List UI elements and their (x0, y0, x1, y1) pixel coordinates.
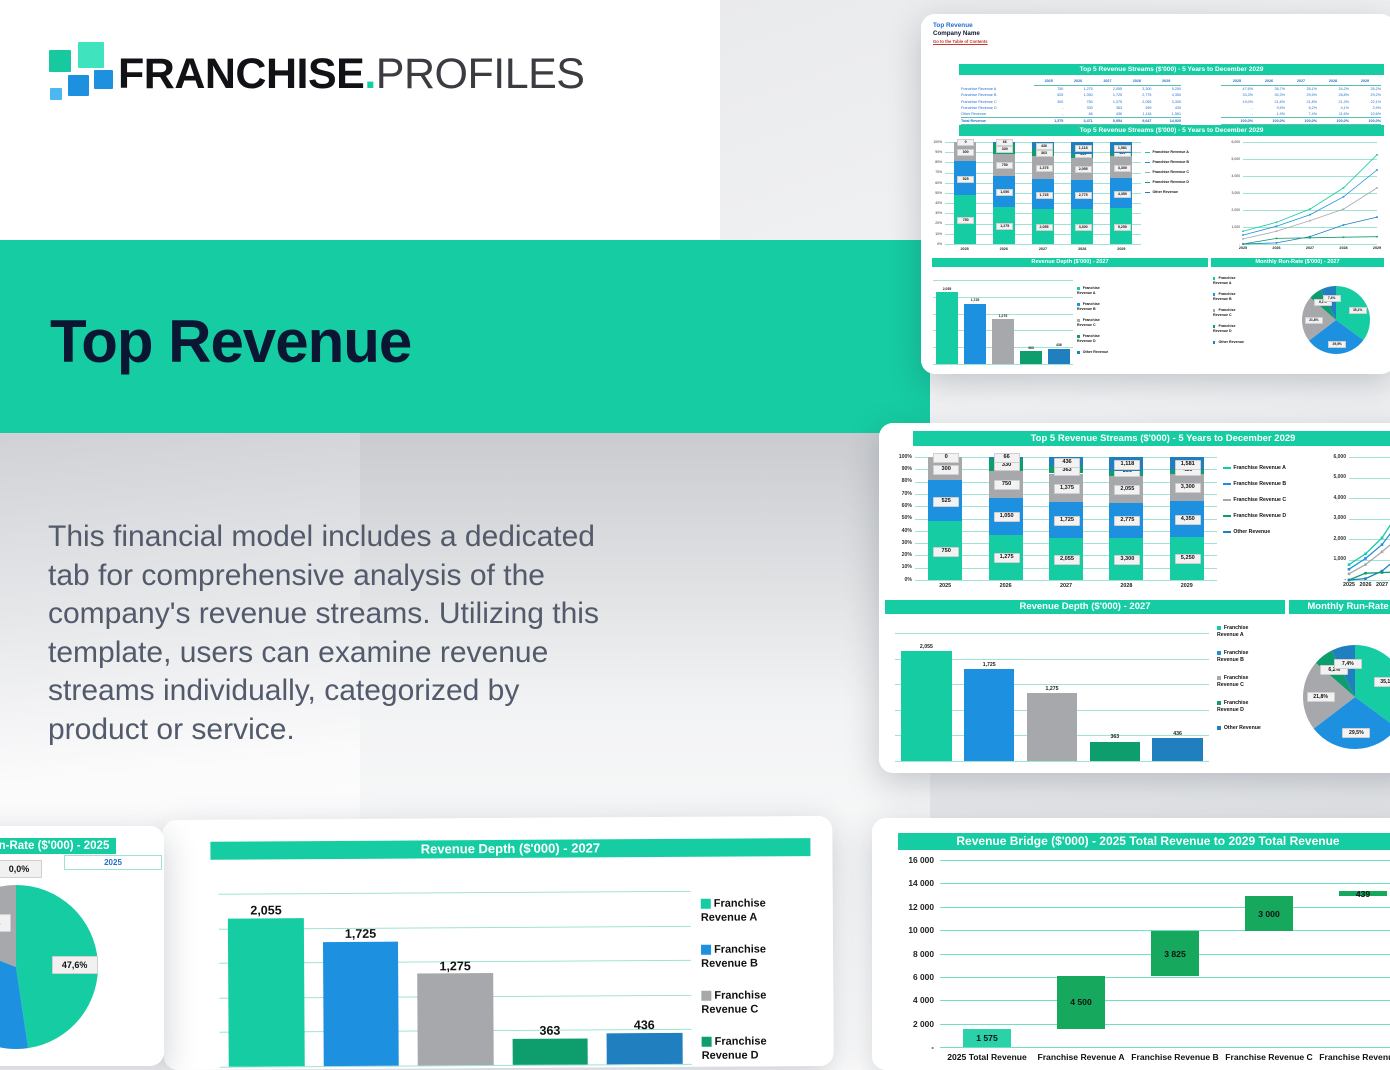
legend-swatch (1223, 467, 1231, 469)
bar-value-label: 2,775 (1075, 192, 1092, 199)
bar-value-label: 1,275 (996, 223, 1013, 230)
bar (323, 941, 399, 1066)
bar-value-label: 1,725 (958, 298, 992, 302)
legend-swatch (1213, 277, 1215, 279)
legend-label: Franchise Revenue C (1077, 318, 1100, 327)
legend-label: Franchise Revenue A (1217, 625, 1248, 638)
gridline (945, 244, 1141, 245)
x-axis-tick-label: 2029 (1157, 583, 1217, 589)
bar-value-label: 363 (1084, 734, 1146, 740)
waterfall-value-label: 439 (1339, 889, 1388, 899)
legend-item: Other Revenue (1223, 529, 1307, 536)
legend-label: Franchise Revenue D (1213, 324, 1235, 333)
legend-label: Franchise Revenue B (1217, 650, 1248, 663)
legend-label: Franchise Revenue D (1233, 513, 1286, 519)
y-axis-tick-label: 6 000 (894, 972, 934, 982)
x-axis-tick-label: 2027 (1036, 583, 1096, 589)
bar (964, 669, 1014, 761)
legend-label: Franchise Revenue C (1217, 675, 1248, 688)
screenshot-card-stacked-detail[interactable]: Top 5 Revenue Streams ($'000) - 5 Years … (879, 423, 1390, 773)
x-axis-tick-label: 2027 (1023, 247, 1062, 251)
bar-value-label: 363 (1036, 150, 1053, 157)
x-axis-tick-label: 2027 (1300, 246, 1320, 250)
runrate-pie-title: Monthly Run-Rate ($'000) - 2025 (0, 838, 116, 854)
stacked-bar-chart-small: 0%10%20%30%40%50%60%70%80%90%100%7505253… (929, 138, 1199, 254)
legend-swatch (1145, 192, 1150, 194)
legend-swatch (1223, 483, 1231, 485)
bar-value-label: 1,275 (1021, 686, 1083, 692)
y-axis-tick-label: 10% (889, 564, 912, 570)
bar-value-label: 5,250 (1114, 224, 1131, 231)
legend-swatch (1077, 351, 1080, 354)
pie-plot-2025: 47,6%33,3%19,0%0,0%0,0% (0, 872, 164, 1062)
legend-item: Franchise Revenue D (702, 1034, 810, 1063)
bar-value-label: 1,725 (1036, 192, 1053, 199)
bar (936, 292, 958, 364)
legend-label: Other Revenue (1083, 350, 1109, 354)
legend-label: Franchise Revenue A (1152, 150, 1188, 154)
bar-value-label: 4,350 (1175, 515, 1201, 525)
bar-value-label: 436 (1042, 343, 1076, 347)
bar-value-label: 750 (957, 217, 974, 224)
legend-swatch (1213, 341, 1215, 343)
legend-item: Franchise Revenue A (701, 896, 809, 925)
pie-value-label: 0,0% (0, 860, 42, 878)
bar-value-label: 3,300 (1075, 224, 1092, 231)
x-axis-tick-label: 2025 Total Revenue (940, 1052, 1034, 1062)
gridline (915, 580, 1217, 581)
pie-value-label: 21,8% (1305, 317, 1323, 324)
brand-logo: FRANCHISE.PROFILES (45, 42, 545, 112)
bar-value-label: 5,250 (1175, 554, 1201, 564)
table-total-row: Total Revenue 1,575 3,471 5,954 9,647 14… (961, 118, 1181, 125)
y-axis-tick-label: 10 000 (894, 925, 934, 935)
logo-square-blue (68, 75, 89, 96)
legend-swatch (1223, 499, 1231, 501)
table-total-row: 100,0% 100,0% 100,0% 100,0% 100,0% (1221, 118, 1381, 125)
bar-value-label: 363 (506, 1024, 594, 1039)
y-axis-tick-label: 0% (929, 242, 942, 246)
sheet-company-name: Company Name (933, 30, 988, 38)
legend-item: Franchise Revenue A (1213, 276, 1273, 286)
screenshot-card-revenue-bridge[interactable]: Revenue Bridge ($'000) - 2025 Total Reve… (872, 818, 1390, 1070)
pie-value-label: 7,4% (1323, 295, 1341, 302)
legend-swatch (1213, 325, 1215, 327)
legend-swatch (1077, 303, 1080, 306)
line-series-paths (1319, 451, 1390, 596)
bar (417, 973, 493, 1065)
y-axis-tick-label: 2 000 (894, 1019, 934, 1029)
x-axis-tick-label: 2026 (1267, 246, 1287, 250)
runrate-band-title: Monthly Run-Rate ($'000) - 2027 (1211, 258, 1384, 267)
legend-item: Franchise Revenue B (1213, 292, 1273, 302)
legend-label: Franchise Revenue C (1233, 497, 1286, 503)
table-row: 47,6% 36,7% 35,1% 34,2% 35,2% (1221, 86, 1381, 93)
revenue-depth-chart-large: 2,0551,7251,275363436 (889, 619, 1209, 769)
pie-value-label: 29,5% (1328, 341, 1346, 348)
legend-swatch (1077, 319, 1080, 322)
legend-item: Franchise Revenue C (1223, 497, 1307, 504)
y-axis-tick-label: 8 000 (894, 949, 934, 959)
legend-item: Franchise Revenue B (1145, 160, 1197, 165)
logo-square-teal-light (78, 42, 104, 68)
revenue-table-percent: 2025 2026 2027 2028 2029 47,6% 36,7% 35,… (1221, 78, 1381, 125)
waterfall-value-label: 4 500 (1057, 997, 1106, 1007)
legend-label: Franchise Revenue D (1217, 700, 1248, 713)
legend-label: Franchise Revenue B (1077, 302, 1100, 311)
legend-item: Franchise Revenue B (1217, 650, 1277, 664)
gridline (940, 1024, 1390, 1025)
logo-wordmark: FRANCHISE.PROFILES (118, 39, 584, 109)
bar (1020, 351, 1042, 364)
logo-dot: . (364, 50, 375, 98)
stacked-chart-band-title: Top 5 Revenue Streams ($'000) - 5 Years … (959, 125, 1384, 136)
legend-swatch (701, 991, 711, 1001)
y-axis-tick-label: - (894, 1042, 934, 1052)
legend-item: Franchise Revenue D (1213, 324, 1273, 334)
x-axis-tick-label: 2026 (975, 583, 1035, 589)
pie-value-label: 29,5% (1342, 728, 1370, 738)
bar-value-label: 330 (996, 146, 1013, 153)
y-axis-tick-label: 20% (929, 221, 942, 225)
legend-label: Franchise Revenue D (1077, 334, 1100, 343)
legend-swatch (1223, 515, 1231, 517)
y-axis-tick-label: 80% (889, 478, 912, 484)
y-axis-tick-label: 90% (889, 466, 912, 472)
bar (607, 1032, 683, 1064)
bar-value-label: 2,055 (1114, 485, 1140, 495)
legend-label: Other Revenue (1233, 529, 1270, 535)
legend-item: Franchise Revenue C (1213, 308, 1273, 318)
pie-value-label: 35,1% (1349, 307, 1367, 314)
bar-value-label: 0 (957, 139, 974, 146)
sheet-header: Top Revenue Company Name Go to the Table… (933, 22, 988, 45)
bar-value-label: 2,055 (895, 644, 957, 650)
bar (1027, 693, 1077, 761)
pie-value-label: 21,8% (1307, 692, 1335, 702)
gridline (895, 761, 1209, 762)
revenue-bridge-plot: -2 0004 0006 0008 00010 00012 00014 0001… (894, 854, 1390, 1069)
x-axis-tick-label: Franchise Revenue A (1034, 1052, 1128, 1062)
legend-item: Franchise Revenue D (1217, 700, 1277, 714)
y-axis-tick-label: 70% (929, 170, 942, 174)
legend-swatch (701, 899, 711, 909)
background-header-white (0, 0, 720, 240)
bar-value-label: 525 (933, 497, 959, 507)
bar-value-label: 3,300 (1175, 483, 1201, 493)
bar-value-label: 2,055 (222, 904, 310, 919)
x-axis-tick-label: 2028 (1063, 247, 1102, 251)
bar-value-label: 3,300 (1114, 555, 1140, 565)
y-axis-tick-label: 50% (889, 515, 912, 521)
waterfall-value-label: 3 000 (1245, 909, 1294, 919)
y-axis-tick-label: 40% (929, 201, 942, 205)
pie-chart-large: 35,1%29,5%21,8%6,2%7,4%Franchise Revenue… (1215, 619, 1390, 769)
legend-item: Franchise Revenue A (1145, 150, 1197, 155)
legend-item: Franchise Revenue B (1223, 481, 1307, 488)
legend-label: Franchise Revenue D (1152, 180, 1189, 184)
gridline (940, 907, 1390, 908)
bar-value-label: 1,275 (411, 959, 499, 974)
table-band-title: Top 5 Revenue Streams ($'000) - 5 Years … (959, 64, 1384, 75)
legend-label: Franchise Revenue B (1233, 481, 1286, 487)
waterfall-value-label: 3 825 (1151, 949, 1200, 959)
stacked-chart-title-2: Top 5 Revenue Streams ($'000) - 5 Years … (913, 431, 1390, 446)
gridline (219, 891, 691, 894)
gridline (940, 977, 1390, 978)
x-axis-tick-label: 2025 (1233, 246, 1253, 250)
pie-slices (1215, 619, 1390, 769)
screenshot-card-spreadsheet-overview[interactable]: Top Revenue Company Name Go to the Table… (921, 14, 1390, 374)
y-axis-tick-label: 70% (889, 491, 912, 497)
bar-value-label: 4,350 (1114, 191, 1131, 198)
x-axis-tick-label: Franchise Revenue B (1128, 1052, 1222, 1062)
bar (228, 918, 304, 1067)
legend-item: Franchise Revenue A (1077, 286, 1127, 296)
revenue-depth-band-title: Revenue Depth ($'000) - 2027 (932, 258, 1208, 267)
hero-paragraph: This financial model includes a dedicate… (48, 518, 618, 749)
gridline (895, 633, 1209, 634)
legend-swatch (701, 945, 711, 955)
pie-value-label: 19,0% (0, 914, 11, 932)
legend-swatch (1077, 287, 1080, 290)
bar-value-label: 750 (996, 162, 1013, 169)
bar-value-label: 1,118 (1075, 145, 1092, 152)
legend-item: Franchise Revenue C (701, 988, 809, 1017)
pie-value-label: 7,4% (1334, 659, 1362, 669)
legend-swatch (1217, 626, 1221, 630)
bar (901, 651, 951, 761)
legend-swatch (1213, 309, 1215, 311)
legend-label: Franchise Revenue C (1213, 308, 1235, 317)
legend-item: Franchise Revenue B (701, 942, 809, 971)
legend-label: Franchise Revenue B (1152, 160, 1189, 164)
bar-value-label: 1,118 (1114, 460, 1140, 470)
screenshot-card-pie-2025[interactable]: Monthly Run-Rate ($'000) - 2025 2025 47,… (0, 826, 164, 1066)
y-axis-tick-label: 100% (889, 454, 912, 460)
bar-value-label: 1,050 (996, 189, 1013, 196)
revenue-depth-title-3: Revenue Depth ($'000) - 2027 (210, 838, 810, 860)
y-axis-tick-label: 10% (929, 232, 942, 236)
legend-item: Franchise Revenue A (1223, 465, 1307, 472)
x-axis-tick-label: Franchise Revenue C (1222, 1052, 1316, 1062)
legend-label: Other Revenue (1224, 725, 1261, 731)
legend-item: Franchise Revenue B (1077, 302, 1127, 312)
legend-swatch (1217, 701, 1221, 705)
bar-value-label: 300 (957, 149, 974, 156)
legend-item: Other Revenue (1077, 350, 1127, 355)
pie-value-label: 47,6% (52, 956, 98, 974)
bar-value-label: 2,775 (1114, 516, 1140, 526)
bar-value-label: 3,300 (1114, 165, 1131, 172)
x-axis-tick-label: 2026 (984, 247, 1023, 251)
logo-word-profiles: PROFILES (376, 50, 585, 98)
revenue-table-values: 2025 2026 2027 2028 2029 Franchise Reven… (961, 78, 1181, 125)
y-axis-tick-label: 60% (889, 503, 912, 509)
legend-swatch (702, 1037, 712, 1047)
legend-label: Other Revenue (1218, 340, 1244, 344)
bar-value-label: 300 (933, 465, 959, 475)
line-chart-small: -1,0002,0003,0004,0005,0006,000202520262… (1221, 138, 1381, 254)
legend-label: Franchise Revenue A (1233, 465, 1286, 471)
bar-value-label: 436 (600, 1018, 688, 1033)
x-axis-tick-label: 2029 (1102, 247, 1141, 251)
bar-value-label: 2,055 (930, 287, 964, 291)
legend-swatch (1217, 726, 1221, 730)
legend-label: Franchise Revenue C (1152, 170, 1189, 174)
revenue-depth-chart-small: 2,0551,7251,275363436Franchise Revenue A… (929, 270, 1129, 370)
pie-value-label: 35,1% (1374, 677, 1390, 687)
legend-item: Franchise Revenue A (1217, 625, 1277, 639)
legend-item: Franchise Revenue C (1217, 675, 1277, 689)
gridline (940, 883, 1390, 884)
logo-word-franchise: FRANCHISE (118, 50, 364, 98)
x-axis-tick-label: 2029 (1367, 246, 1387, 250)
bar-value-label: 1,725 (317, 927, 405, 942)
bar-value-label: 1,725 (1054, 516, 1080, 526)
table-header-row: 2025 2026 2027 2028 2029 (1221, 78, 1381, 86)
waterfall-value-label: 1 575 (963, 1033, 1012, 1043)
y-axis-tick-label: 30% (929, 211, 942, 215)
bar (1152, 738, 1202, 761)
sheet-title: Top Revenue (933, 22, 988, 30)
x-axis-tick-label: 2025 (945, 247, 984, 251)
bar-value-label: 1,375 (1036, 165, 1053, 172)
stacked-bar-chart-large: 0%10%20%30%40%50%60%70%80%90%100%7505253… (889, 451, 1309, 596)
legend-item: Other Revenue (1145, 190, 1197, 195)
screenshot-card-revenue-depth[interactable]: Revenue Depth ($'000) - 2027 2,0551,7251… (162, 816, 834, 1070)
bar-value-label: 436 (1146, 731, 1208, 737)
logo-square-blue-small (50, 88, 62, 100)
pie-chart-small: 35,1%29,5%21,8%6,2%7,4%Franchise Revenue… (1211, 270, 1386, 370)
bar (964, 304, 986, 364)
y-axis-tick-label: 90% (929, 150, 942, 154)
gridline (933, 280, 1073, 281)
bar-value-label: 436 (1054, 458, 1080, 468)
bar (1090, 742, 1140, 761)
revenue-depth-plot: 2,0551,7251,275363436Franchise Revenue A… (211, 864, 812, 1070)
y-axis-tick-label: 30% (889, 540, 912, 546)
y-axis-tick-label: 0% (889, 577, 912, 583)
bar-value-label: 1,725 (958, 662, 1020, 668)
runrate-title-2: Monthly Run-Rate ($'000) - 2027 (1289, 600, 1390, 614)
bar-value-label: 1,581 (1175, 460, 1201, 470)
x-axis-tick-label: 2027 (1372, 582, 1390, 588)
bar-value-label: 2,055 (1075, 166, 1092, 173)
revenue-bridge-title: Revenue Bridge ($'000) - 2025 Total Reve… (898, 833, 1390, 850)
legend-swatch (1145, 152, 1150, 154)
bar (992, 319, 1014, 364)
page-title: Top Revenue (50, 312, 411, 372)
y-axis-tick-label: 40% (889, 528, 912, 534)
revenue-depth-title-2: Revenue Depth ($'000) - 2027 (885, 600, 1285, 614)
legend-item: Franchise Revenue D (1223, 513, 1307, 520)
table-row: - 1,9% 7,4% 11,6% 10,6% (1221, 111, 1381, 118)
y-axis-tick-label: 50% (929, 191, 942, 195)
legend-item: Franchise Revenue C (1077, 318, 1127, 328)
legend-item: Other Revenue (1217, 725, 1277, 732)
legend-label: Franchise Revenue A (1213, 276, 1235, 285)
y-axis-tick-label: 80% (929, 160, 942, 164)
x-axis-tick-label: Franchise Revenue D (1316, 1052, 1390, 1062)
logo-square-teal-dark (49, 50, 71, 72)
pie-legend-year: 2025 (64, 855, 162, 870)
legend-item: Franchise Revenue D (1145, 180, 1197, 185)
bar-value-label: 750 (933, 547, 959, 557)
bar-value-label: 2,055 (1036, 224, 1053, 231)
legend-swatch (1217, 651, 1221, 655)
legend-label: Franchise Revenue A (1077, 286, 1100, 295)
bar-value-label: 1,275 (994, 553, 1020, 563)
bar-value-label: 1,050 (994, 512, 1020, 522)
table-header-row: 2025 2026 2027 2028 2029 (961, 78, 1181, 86)
y-axis-tick-label: 12 000 (894, 902, 934, 912)
legend-label: Franchise Revenue B (1213, 292, 1235, 301)
gridline (940, 860, 1390, 861)
line-series-paths (1221, 138, 1381, 254)
line-chart-large: -1,0002,0003,0004,0005,0006,000202520262… (1319, 451, 1390, 596)
bar (512, 1038, 588, 1065)
bar-value-label: 330 (994, 461, 1020, 471)
legend-swatch (1145, 172, 1150, 174)
bar-value-label: 2,055 (1054, 555, 1080, 565)
legend-swatch (1217, 676, 1221, 680)
bar-value-label: 1,375 (1054, 484, 1080, 494)
bar-value-label: 66 (994, 453, 1020, 463)
y-axis-tick-label: 100% (929, 140, 942, 144)
gridline (940, 1000, 1390, 1001)
legend-swatch (1077, 335, 1080, 338)
gridline (933, 364, 1073, 365)
legend-item: Franchise Revenue C (1145, 170, 1197, 175)
bar (1048, 349, 1070, 364)
bar-value-label: 1,581 (1114, 145, 1131, 152)
legend-swatch (1145, 162, 1150, 164)
y-axis-tick-label: 16 000 (894, 855, 934, 865)
x-axis-tick-label: 2028 (1096, 583, 1156, 589)
toc-link[interactable]: Go to the Table of Contents (933, 38, 988, 45)
logo-square-blue-right (94, 70, 113, 89)
bar-value-label: 66 (996, 139, 1013, 146)
table-row: Franchise Revenue A 750 1,275 2,055 3,30… (961, 86, 1181, 93)
y-axis-tick-label: 20% (889, 552, 912, 558)
legend-label: Other Revenue (1152, 190, 1178, 194)
bar-value-label: 436 (1036, 143, 1053, 150)
x-axis-tick-label: 2025 (915, 583, 975, 589)
y-axis-tick-label: 14 000 (894, 878, 934, 888)
bar-value-label: 1,275 (986, 314, 1020, 318)
y-axis-tick-label: 60% (929, 181, 942, 185)
legend-swatch (1145, 182, 1150, 184)
legend-swatch (1213, 293, 1215, 295)
y-axis-tick-label: 4 000 (894, 995, 934, 1005)
x-axis-tick-label: 2028 (1334, 246, 1354, 250)
bar-value-label: 750 (994, 480, 1020, 490)
table-row: Other Revenue - 66 436 1,118 1,581 (961, 111, 1181, 118)
bar-value-label: 0 (933, 453, 959, 463)
bar-value-label: 525 (957, 176, 974, 183)
legend-swatch (1223, 531, 1231, 533)
legend-item: Other Revenue (1213, 340, 1273, 345)
gridline (940, 1047, 1390, 1048)
legend-item: Franchise Revenue D (1077, 334, 1127, 344)
